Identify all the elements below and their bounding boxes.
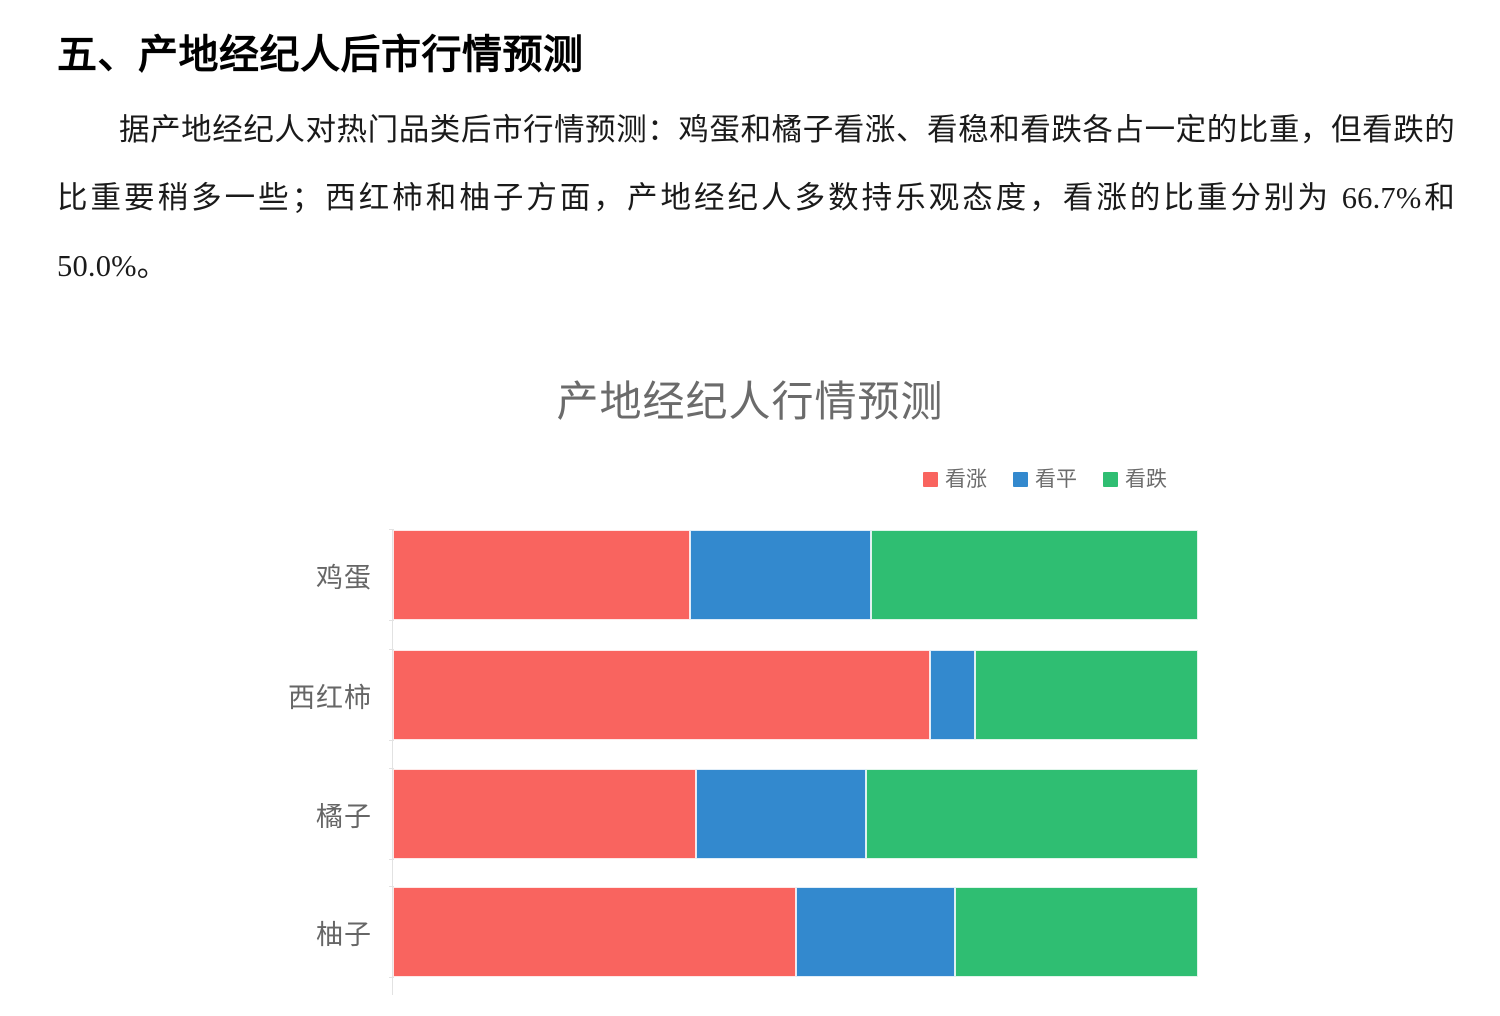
legend-label-bullish: 看涨 [945,469,987,490]
axis-tick [389,529,394,530]
legend-label-flat: 看平 [1035,469,1077,490]
bar-segment-看跌[interactable] [871,530,1198,620]
axis-tick [389,977,394,978]
axis-tick [389,859,394,860]
chart-plot-area: 鸡蛋西红柿橘子柚子 [0,530,1500,1016]
bar-row: 西红柿 [0,650,1500,740]
chart-title: 产地经纪人行情预测 [0,368,1500,429]
stacked-bar-2 [393,650,1198,740]
bar-segment-看跌[interactable] [955,887,1198,977]
stacked-bar-4 [393,887,1198,977]
category-label-4: 柚子 [160,913,372,952]
category-label-3: 橘子 [160,795,372,834]
bar-segment-看跌[interactable] [975,650,1198,740]
legend-item-bearish[interactable]: 看跌 [1103,469,1167,490]
bar-row: 橘子 [0,769,1500,859]
chart-legend: 看涨 看平 看跌 [923,469,1167,490]
legend-item-flat[interactable]: 看平 [1013,469,1077,490]
axis-tick [389,620,394,621]
bar-segment-看平[interactable] [796,887,955,977]
bar-segment-看涨[interactable] [393,769,696,859]
bar-segment-看平[interactable] [696,769,866,859]
axis-tick [389,649,394,650]
bar-segment-看平[interactable] [690,530,871,620]
body-paragraph: 据产地经纪人对热门品类后市行情预测：鸡蛋和橘子看涨、看稳和看跌各占一定的比重，但… [0,77,1500,300]
bar-segment-看跌[interactable] [866,769,1198,859]
bar-row: 柚子 [0,887,1500,977]
bar-row: 鸡蛋 [0,530,1500,620]
bar-segment-看涨[interactable] [393,530,690,620]
legend-swatch-flat [1013,472,1028,487]
axis-tick [389,740,394,741]
legend-item-bullish[interactable]: 看涨 [923,469,987,490]
stacked-bar-3 [393,769,1198,859]
document-body: 五、产地经纪人后市行情预测 据产地经纪人对热门品类后市行情预测：鸡蛋和橘子看涨、… [0,0,1500,300]
forecast-stacked-bar-chart: 产地经纪人行情预测 看涨 看平 看跌 鸡蛋西红柿橘子柚子 [0,340,1500,1016]
category-label-1: 鸡蛋 [160,556,372,595]
stacked-bar-1 [393,530,1198,620]
bar-segment-看涨[interactable] [393,650,930,740]
page-title: 五、产地经纪人后市行情预测 [0,0,1500,77]
axis-tick [389,768,394,769]
category-label-2: 西红柿 [160,676,372,715]
bar-segment-看平[interactable] [930,650,975,740]
bar-segment-看涨[interactable] [393,887,796,977]
axis-tick [389,886,394,887]
legend-swatch-bearish [1103,472,1118,487]
legend-swatch-bullish [923,472,938,487]
legend-label-bearish: 看跌 [1125,469,1167,490]
